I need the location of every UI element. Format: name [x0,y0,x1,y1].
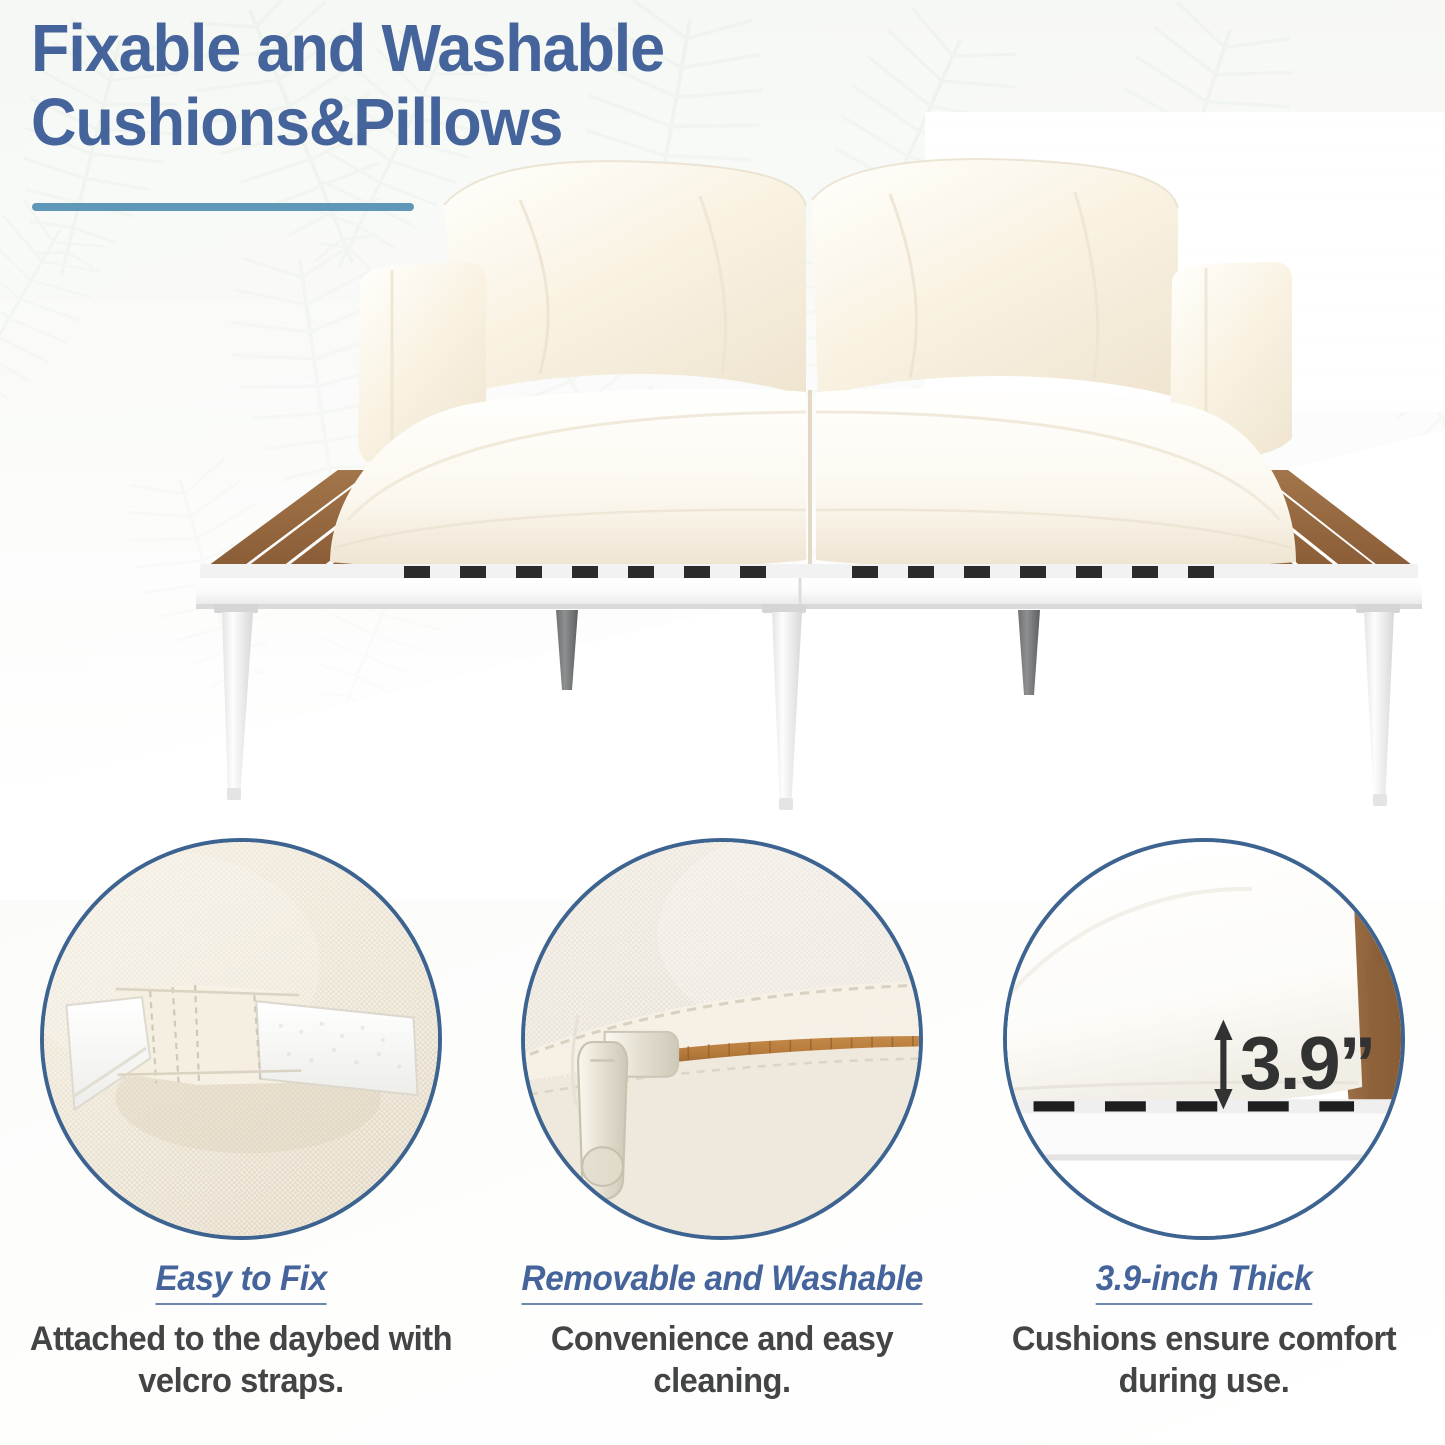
infographic-page: Fixable and Washable Cushions&Pillows [0,0,1445,1445]
hero-daybed-photo [0,0,1445,830]
feature-title-removable-and-washable: Removable and Washable [521,1258,922,1305]
leg-rear-left [556,610,578,690]
leg-rear-right [1018,610,1040,695]
feature-body-easy-to-fix: Attached to the daybed with velcro strap… [10,1318,473,1402]
feature-body-thickness: Cushions ensure comfort during use. [973,1318,1436,1402]
dimension-label: 3.9” [1240,1022,1375,1106]
feature-photo-row: 3.9” [0,828,1445,1248]
frame-rail [196,578,1422,609]
feature-photo-zipper [521,838,923,1240]
feature-body-removable-and-washable: Convenience and easy cleaning. [491,1318,954,1402]
feature-caption-removable-and-washable: Removable and Washable Convenience and e… [481,1258,963,1402]
feature-caption-thickness: 3.9-inch Thick Cushions ensure comfort d… [963,1258,1445,1402]
back-pillow-left [444,161,806,396]
feature-title-easy-to-fix: Easy to Fix [155,1258,326,1305]
legs [214,604,1400,810]
feature-title-thickness: 3.9-inch Thick [1096,1258,1312,1305]
feature-captions-row: Easy to Fix Attached to the daybed with … [0,1258,1445,1445]
feature-caption-easy-to-fix: Easy to Fix Attached to the daybed with … [0,1258,482,1402]
feature-photo-velcro-strap [40,838,442,1240]
back-pillow-right [812,159,1178,398]
feature-photo-thickness: 3.9” [1003,838,1405,1240]
